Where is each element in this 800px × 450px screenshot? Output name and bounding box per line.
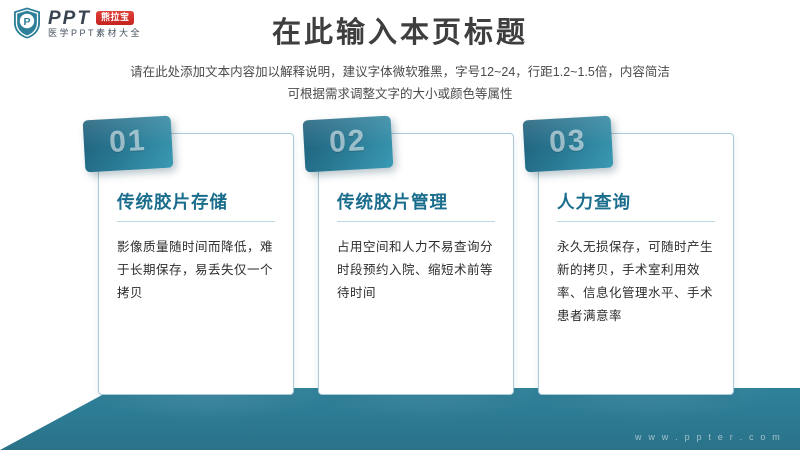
card-3-number-badge: 03 (523, 116, 614, 173)
card-1-heading: 传统胶片存储 (117, 192, 275, 222)
footer-watermark: w w w . p p t e r . c o m (635, 432, 782, 442)
card-2-number-badge: 02 (303, 116, 394, 173)
subtitle-line-2: 可根据需求调整文字的大小或颜色等属性 (0, 84, 800, 106)
card-group: 传统胶片存储 影像质量随时间而降低，难于长期保存，易丢失仅一个拷贝 传统胶片管理… (0, 133, 800, 403)
page-subtitle: 请在此处添加文本内容加以解释说明，建议字体微软雅黑，字号12~24，行距1.2~… (0, 62, 800, 106)
card-1-body: 影像质量随时间而降低，难于长期保存，易丢失仅一个拷贝 (117, 236, 275, 305)
page-title: 在此输入本页标题 (0, 16, 800, 51)
card-1-number: 01 (83, 123, 173, 162)
card-2-number: 02 (303, 123, 393, 162)
content-card-2[interactable]: 传统胶片管理 占用空间和人力不易查询分时段预约入院、缩短术前等待时间 (318, 133, 514, 395)
content-card-1[interactable]: 传统胶片存储 影像质量随时间而降低，难于长期保存，易丢失仅一个拷贝 (98, 133, 294, 395)
card-3-number: 03 (523, 123, 613, 162)
card-1-number-badge: 01 (83, 116, 174, 173)
subtitle-line-1: 请在此处添加文本内容加以解释说明，建议字体微软雅黑，字号12~24，行距1.2~… (0, 62, 800, 84)
card-3-heading: 人力查询 (557, 192, 715, 222)
content-card-3[interactable]: 人力查询 永久无损保存，可随时产生新的拷贝，手术室利用效率、信息化管理水平、手术… (538, 133, 734, 395)
card-2-heading: 传统胶片管理 (337, 192, 495, 222)
card-2-body: 占用空间和人力不易查询分时段预约入院、缩短术前等待时间 (337, 236, 495, 305)
card-3-body: 永久无损保存，可随时产生新的拷贝，手术室利用效率、信息化管理水平、手术患者满意率 (557, 236, 715, 329)
slide-canvas: w w w . p p t e r . c o m P PPT 熊拉宝 医学PP… (0, 0, 800, 450)
